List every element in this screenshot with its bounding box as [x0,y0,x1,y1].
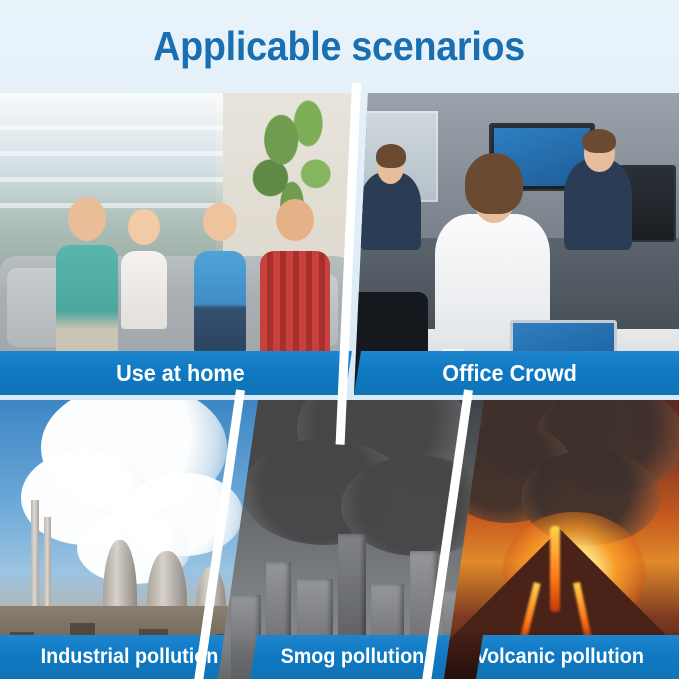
card-label-text: Industrial pollution [40,645,218,669]
scenario-grid: Use at home [0,93,679,679]
poster-header: Applicable scenarios [0,0,679,93]
office-crowd-photo [340,93,679,395]
person-toddler [115,209,173,329]
page-title: Applicable scenarios [154,23,526,70]
office-scene-photo [340,93,679,395]
applicable-scenarios-poster: Applicable scenarios [0,0,679,679]
person-mother [50,197,124,365]
scenario-card-use-at-home[interactable]: Use at home [0,93,360,395]
scenario-card-office-crowd[interactable]: Office Crowd [340,93,679,395]
person-father [252,199,338,359]
scenario-card-volcanic-pollution[interactable]: Volcanic pollution [440,400,679,679]
card-label-text: Smog pollution [280,645,424,669]
woman-hair [465,153,523,213]
colleague-right-body [564,159,632,250]
card-label-use-at-home: Use at home [0,351,360,395]
card-label-text: Use at home [116,360,245,387]
use-at-home-photo [0,93,360,395]
scenario-row-bottom: Industrial pollution [0,400,679,679]
card-label-text: Office Crowd [442,360,577,387]
lava-flow-center [550,526,560,612]
home-scene-photo [0,93,360,395]
card-label-text: Volcanic pollution [475,645,644,669]
person-boy [187,203,253,353]
card-label-office-crowd: Office Crowd [340,351,679,395]
scenario-row-top: Use at home [0,93,679,395]
